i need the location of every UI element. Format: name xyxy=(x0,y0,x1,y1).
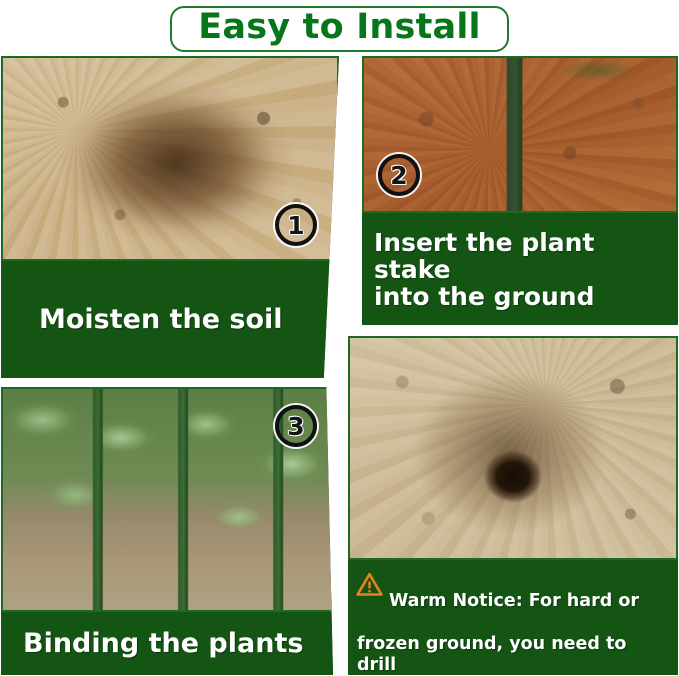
warning-notice-text: Warm Notice: For hard or frozen ground, … xyxy=(389,570,670,675)
warning-line-2: frozen ground, you need to drill xyxy=(357,634,670,675)
step-badge-3: 3 xyxy=(275,405,317,447)
warning-line-1: Warm Notice: For hard or xyxy=(389,591,670,612)
page-title: Easy to Install xyxy=(198,9,480,46)
step-4-photo xyxy=(348,336,678,560)
step-panel-4: Warm Notice: For hard or frozen ground, … xyxy=(348,336,678,675)
step-1-caption-bar: Moisten the soil xyxy=(1,261,339,378)
step-panel-1: 1 Moisten the soil xyxy=(1,56,339,378)
step-panel-3: 3 Binding the plants xyxy=(1,387,333,675)
step-badge-2: 2 xyxy=(378,154,420,196)
page-title-bar: Easy to Install xyxy=(0,0,679,58)
title-box: Easy to Install xyxy=(170,6,508,52)
warning-notice-inner: Warm Notice: For hard or frozen ground, … xyxy=(356,570,670,675)
step-2-caption-text: Insert the plant stake into the ground xyxy=(374,229,678,310)
step-2-caption-bar: Insert the plant stake into the ground xyxy=(362,213,678,325)
step-panel-2: 2 Insert the plant stake into the ground xyxy=(362,56,678,325)
step-badge-1: 1 xyxy=(275,204,317,246)
step-3-caption-text: Binding the plants xyxy=(23,628,303,659)
step-1-caption-text: Moisten the soil xyxy=(39,304,283,335)
warning-triangle-icon xyxy=(356,572,383,601)
warning-notice-bar: Warm Notice: For hard or frozen ground, … xyxy=(348,560,678,675)
step-3-caption-bar: Binding the plants xyxy=(1,612,333,675)
